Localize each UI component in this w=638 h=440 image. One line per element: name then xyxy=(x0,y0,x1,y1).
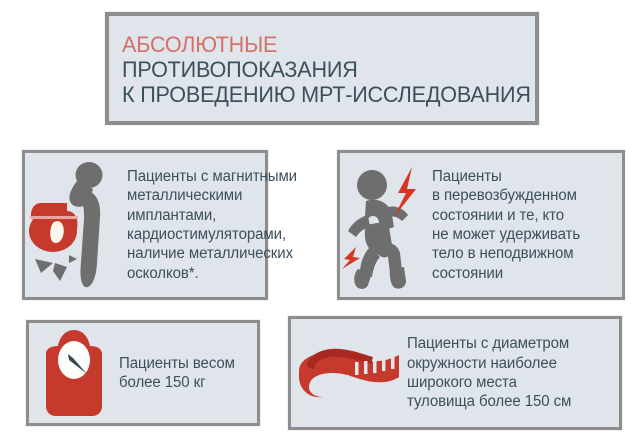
bathroom-scale-icon xyxy=(29,323,115,423)
text-line: осколков*. xyxy=(127,264,297,283)
text-line: не может удерживать xyxy=(432,225,580,244)
text-line: состоянии xyxy=(432,264,580,283)
text-line: имплантами, xyxy=(127,206,297,225)
title-line-3: К ПРОВЕДЕНИЮ МРТ-ИССЛЕДОВАНИЯ xyxy=(122,82,518,107)
text-line: Пациенты с магнитными xyxy=(127,167,297,186)
text-line: более 150 кг xyxy=(119,373,235,392)
text-line: в перевозбужденном xyxy=(432,186,580,205)
card-implants-text: Пациенты с магнитными металлическими имп… xyxy=(127,167,297,283)
text-line: Пациенты весом xyxy=(119,354,235,373)
text-line: наличие металлических xyxy=(127,244,297,263)
text-line: кардиостимуляторами, xyxy=(127,225,297,244)
text-line: окружности наиболее xyxy=(407,354,571,373)
title-line-2: ПРОТИВОПОКАЗАНИЯ xyxy=(122,57,518,82)
hip-implant-pacemaker-shrapnel-icon xyxy=(25,153,125,297)
card-agitated-patients: Пациенты в перевозбужденном состоянии и … xyxy=(337,150,625,300)
text-line: Пациенты с диаметром xyxy=(407,334,571,353)
running-person-lightning-icon xyxy=(340,153,432,297)
title-panel: АБСОЛЮТНЫЕ ПРОТИВОПОКАЗАНИЯ К ПРОВЕДЕНИЮ… xyxy=(105,12,539,125)
text-line: тело в неподвижном xyxy=(432,244,580,263)
text-line: широкого места xyxy=(407,373,571,392)
card-agitated-text: Пациенты в перевозбужденном состоянии и … xyxy=(432,167,580,283)
card-weight-text: Пациенты весом более 150 кг xyxy=(119,354,235,393)
text-line: металлическими xyxy=(127,186,297,205)
text-line: туловища более 150 см xyxy=(407,392,571,411)
infographic-canvas: АБСОЛЮТНЫЕ ПРОТИВОПОКАЗАНИЯ К ПРОВЕДЕНИЮ… xyxy=(0,0,638,440)
text-line: Пациенты xyxy=(432,167,580,186)
card-patient-weight: Пациенты весом более 150 кг xyxy=(26,320,260,426)
title-accent-line: АБСОЛЮТНЫЕ xyxy=(122,32,518,57)
measuring-tape-icon xyxy=(291,319,407,427)
text-line: состоянии и те, кто xyxy=(432,206,580,225)
card-body-girth: Пациенты с диаметром окружности наиболее… xyxy=(288,316,622,430)
card-girth-text: Пациенты с диаметром окружности наиболее… xyxy=(407,334,571,412)
card-magnetic-implants: Пациенты с магнитными металлическими имп… xyxy=(22,150,268,300)
